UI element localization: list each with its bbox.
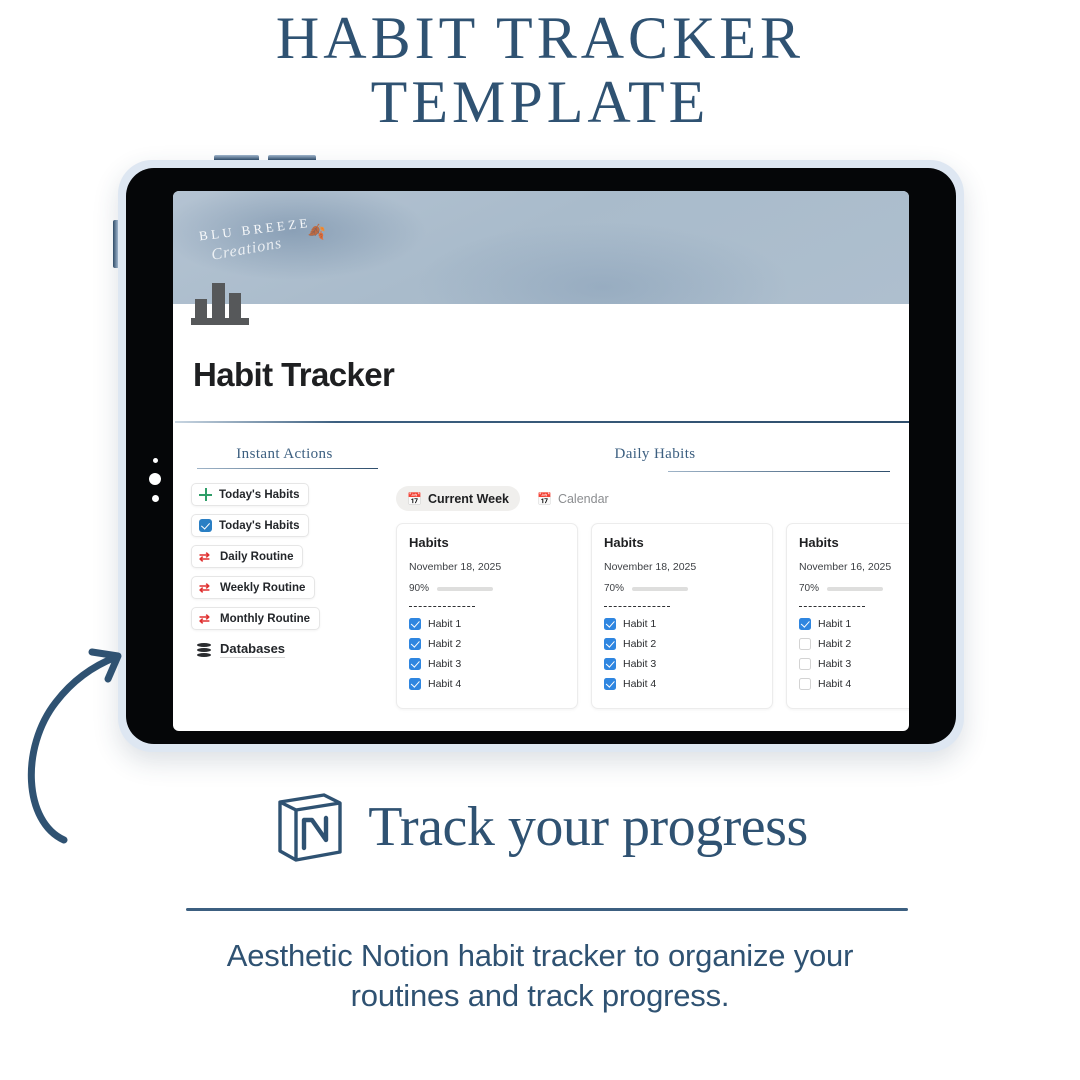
habit-card-title: Habits	[409, 535, 565, 550]
calendar-icon: 📅	[537, 493, 552, 505]
power-button[interactable]	[113, 220, 118, 268]
action-label: Monthly Routine	[220, 613, 310, 625]
habit-card-date: November 18, 2025	[409, 561, 565, 573]
tablet-screen: BLU BREEZE Creations 🍂 Habit Tracker	[173, 191, 909, 731]
habit-card-title: Habits	[799, 535, 909, 550]
promo-subtext-line-2: routines and track progress.	[0, 976, 1080, 1016]
notion-columns: Instant Actions Today's Habits Today's H…	[173, 423, 909, 709]
habit-checkbox[interactable]	[409, 658, 421, 670]
habit-row[interactable]: Habit 1	[799, 618, 909, 630]
daily-habits-column: Daily Habits 📅 Current Week 📅 Calendar	[378, 446, 909, 709]
tab-label: Current Week	[428, 492, 509, 506]
calendar-icon: 📅	[407, 493, 422, 505]
habit-checkbox[interactable]	[409, 618, 421, 630]
action-button-weekly-routine[interactable]: ⇄ Weekly Routine	[191, 576, 315, 599]
plus-icon	[199, 488, 212, 501]
progress-percent-label: 70%	[799, 583, 819, 594]
volume-down-button[interactable]	[268, 155, 316, 160]
tagline-row: Track your progress	[0, 790, 1080, 864]
database-icon	[197, 643, 211, 657]
habit-row[interactable]: Habit 3	[604, 658, 760, 670]
promo-subtext: Aesthetic Notion habit tracker to organi…	[0, 936, 1080, 1016]
habit-card-date: November 16, 2025	[799, 561, 909, 573]
habit-card-progress: 70%	[799, 583, 909, 594]
habit-label: Habit 1	[623, 618, 656, 630]
habit-checkbox[interactable]	[799, 618, 811, 630]
progress-percent-label: 90%	[409, 583, 429, 594]
habit-label: Habit 4	[623, 678, 656, 690]
habit-row[interactable]: Habit 3	[409, 658, 565, 670]
notion-cover-banner: BLU BREEZE Creations 🍂	[173, 191, 909, 304]
tab-calendar[interactable]: 📅 Calendar	[526, 486, 620, 511]
habit-label: Habit 2	[428, 638, 461, 650]
habit-label: Habit 1	[818, 618, 851, 630]
bottom-divider	[186, 908, 908, 911]
habit-cards-list: Habits November 18, 2025 90%	[396, 523, 909, 709]
instant-actions-heading: Instant Actions	[191, 446, 378, 463]
habit-row[interactable]: Habit 2	[799, 638, 909, 650]
habit-checkbox[interactable]	[604, 638, 616, 650]
action-label: Today's Habits	[219, 489, 299, 501]
habit-checkbox[interactable]	[604, 658, 616, 670]
daily-habits-heading: Daily Habits	[378, 446, 909, 463]
habit-label: Habit 2	[818, 638, 851, 650]
instant-actions-list: Today's Habits Today's Habits ⇄ Daily Ro…	[191, 483, 378, 658]
habit-row[interactable]: Habit 1	[409, 618, 565, 630]
habit-card-date: November 18, 2025	[604, 561, 760, 573]
promo-subtext-line-1: Aesthetic Notion habit tracker to organi…	[0, 936, 1080, 976]
tablet-mockup: BLU BREEZE Creations 🍂 Habit Tracker	[118, 160, 964, 752]
habit-row[interactable]: Habit 1	[604, 618, 760, 630]
page-title: HABIT TRACKER TEMPLATE	[0, 6, 1080, 134]
habit-card[interactable]: Habits November 18, 2025 90%	[396, 523, 578, 709]
habit-card-separator	[604, 606, 670, 607]
habit-label: Habit 4	[818, 678, 851, 690]
leaf-icon: 🍂	[307, 222, 326, 241]
habit-row[interactable]: Habit 4	[604, 678, 760, 690]
progress-bar-track	[437, 587, 493, 591]
database-view-tabs: 📅 Current Week 📅 Calendar	[396, 486, 909, 511]
habit-checkbox[interactable]	[799, 658, 811, 670]
promo-title-line-2: TEMPLATE	[0, 70, 1080, 134]
habit-label: Habit 1	[428, 618, 461, 630]
habit-checkbox[interactable]	[409, 638, 421, 650]
habit-row[interactable]: Habit 2	[409, 638, 565, 650]
habit-label: Habit 3	[623, 658, 656, 670]
action-button-monthly-routine[interactable]: ⇄ Monthly Routine	[191, 607, 320, 630]
tab-current-week[interactable]: 📅 Current Week	[396, 486, 520, 511]
progress-bar-track	[632, 587, 688, 591]
action-label: Daily Routine	[220, 551, 293, 563]
instant-actions-underline	[197, 468, 378, 469]
action-label: Weekly Routine	[220, 582, 305, 594]
habit-checkbox[interactable]	[799, 678, 811, 690]
action-label: Today's Habits	[219, 520, 299, 532]
brand-logo: BLU BREEZE Creations 🍂	[198, 214, 324, 282]
habit-row[interactable]: Habit 3	[799, 658, 909, 670]
repeat-icon: ⇄	[199, 581, 213, 594]
checkbox-icon	[199, 519, 212, 532]
bezel-dot-large	[149, 473, 161, 485]
volume-up-button[interactable]	[214, 155, 259, 160]
tab-label: Calendar	[558, 492, 609, 506]
progress-bar-track	[827, 587, 883, 591]
notion-logo-icon	[272, 790, 346, 864]
habit-label: Habit 3	[818, 658, 851, 670]
habit-card-progress: 90%	[409, 583, 565, 594]
habit-card[interactable]: Habits November 16, 2025 70%	[786, 523, 909, 709]
habit-row[interactable]: Habit 4	[409, 678, 565, 690]
habit-label: Habit 4	[428, 678, 461, 690]
habit-label: Habit 3	[428, 658, 461, 670]
bezel-dot-medium	[152, 495, 159, 502]
habit-card-separator	[409, 606, 475, 607]
habit-card-separator	[799, 606, 865, 607]
tablet-body: BLU BREEZE Creations 🍂 Habit Tracker	[126, 168, 956, 744]
habit-card-progress: 70%	[604, 583, 760, 594]
habit-row[interactable]: Habit 4	[799, 678, 909, 690]
instant-actions-column: Instant Actions Today's Habits Today's H…	[173, 446, 378, 709]
bezel-dot-small	[153, 458, 158, 463]
repeat-icon: ⇄	[199, 612, 213, 625]
progress-percent-label: 70%	[604, 583, 624, 594]
habit-checkbox[interactable]	[604, 678, 616, 690]
habit-label: Habit 2	[623, 638, 656, 650]
habit-checkbox[interactable]	[604, 618, 616, 630]
tagline-text: Track your progress	[368, 795, 807, 859]
action-button-daily-routine[interactable]: ⇄ Daily Routine	[191, 545, 303, 568]
databases-link[interactable]: Databases	[191, 641, 378, 658]
daily-habits-underline	[668, 471, 890, 472]
action-button-todays-habits-check[interactable]: Today's Habits	[191, 514, 309, 537]
promo-title-line-1: HABIT TRACKER	[276, 5, 804, 71]
habit-card[interactable]: Habits November 18, 2025 70%	[591, 523, 773, 709]
habit-checkbox[interactable]	[409, 678, 421, 690]
databases-label: Databases	[220, 641, 285, 658]
action-button-todays-habits-add[interactable]: Today's Habits	[191, 483, 309, 506]
repeat-icon: ⇄	[199, 550, 213, 563]
habit-card-title: Habits	[604, 535, 760, 550]
notion-page-body: Habit Tracker Instant Actions Today's Ha…	[173, 304, 909, 709]
habit-checkbox[interactable]	[799, 638, 811, 650]
bezel-dots	[148, 458, 162, 502]
habit-row[interactable]: Habit 2	[604, 638, 760, 650]
notion-page-title: Habit Tracker	[173, 356, 909, 394]
